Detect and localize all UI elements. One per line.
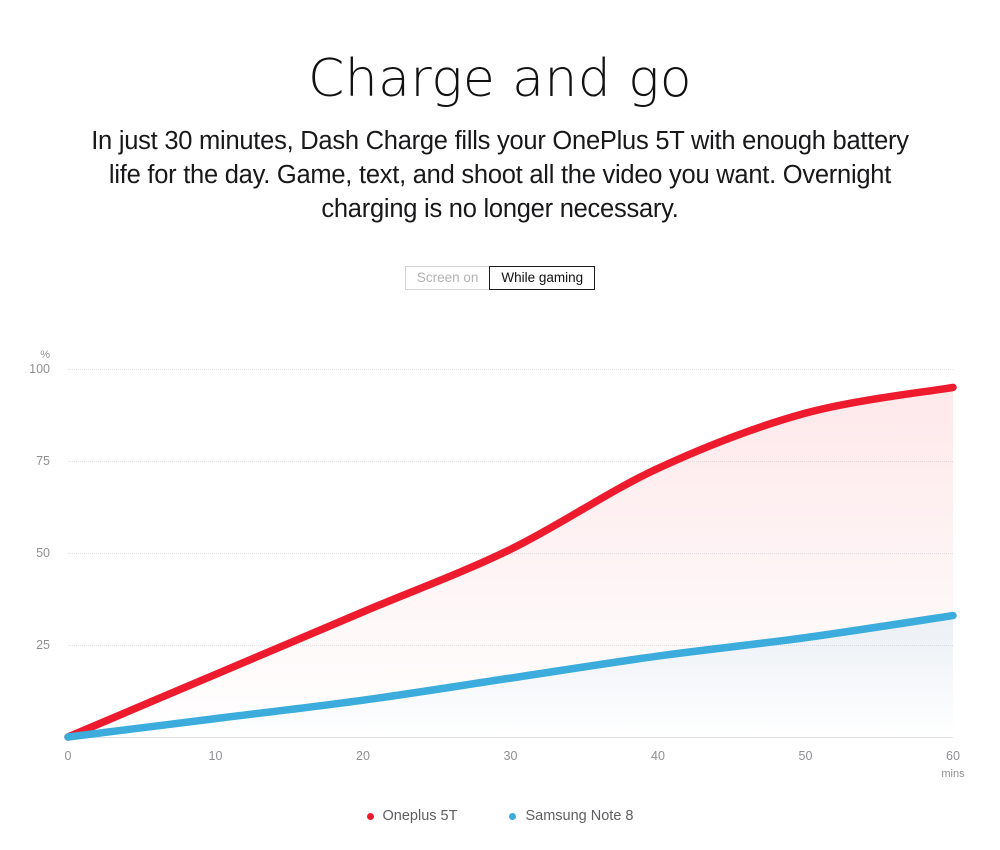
x-axis-tick-40: 40 [651, 749, 665, 763]
x-axis-tick-value: 0 [65, 749, 72, 763]
hero-section: Charge and go In just 30 minutes, Dash C… [0, 0, 1000, 226]
x-axis-tick-value: 30 [504, 749, 518, 763]
x-axis-tick-10: 10 [209, 749, 223, 763]
x-axis-tick-value: 10 [209, 749, 223, 763]
x-axis-tick-value: 60 [946, 749, 960, 763]
x-axis-baseline [68, 737, 953, 738]
x-axis-tick-20: 20 [356, 749, 370, 763]
hero-subtitle: In just 30 minutes, Dash Charge fills yo… [85, 107, 915, 226]
y-axis-tick-50: 50 [36, 546, 50, 560]
page-title: Charge and go [0, 0, 1000, 107]
chart-legend: Oneplus 5T Samsung Note 8 [0, 808, 1000, 824]
toggle-option-while-gaming-label: While gaming [501, 271, 583, 285]
x-axis-tick-value: 50 [799, 749, 813, 763]
y-axis-tick-25: 25 [36, 638, 50, 652]
legend-label-oneplus-5t: Oneplus 5T [383, 808, 458, 824]
y-axis-tick-100: 100 [29, 362, 50, 376]
chart-plot-area: % 255075100 0102030405060mins [68, 369, 953, 737]
y-axis-tick-75: 75 [36, 454, 50, 468]
x-axis-tick-value: 20 [356, 749, 370, 763]
x-axis-unit-label: mins [941, 768, 964, 780]
legend-label-samsung-note-8: Samsung Note 8 [525, 808, 633, 824]
legend-item-oneplus-5t[interactable]: Oneplus 5T [367, 808, 458, 824]
toggle-option-screen-on-label: Screen on [417, 271, 479, 285]
x-axis-tick-60: 60mins [941, 749, 964, 780]
legend-item-samsung-note-8[interactable]: Samsung Note 8 [509, 808, 633, 824]
x-axis-tick-30: 30 [504, 749, 518, 763]
legend-dot-icon [509, 813, 516, 820]
chart-series-layer [68, 369, 953, 737]
legend-dot-icon [367, 813, 374, 820]
battery-charge-chart: % 255075100 0102030405060mins [0, 330, 1000, 800]
toggle-option-while-gaming[interactable]: While gaming [489, 266, 595, 290]
toggle-option-screen-on[interactable]: Screen on [405, 266, 491, 290]
y-axis-unit-label: % [40, 349, 50, 361]
x-axis-tick-50: 50 [799, 749, 813, 763]
x-axis-tick-0: 0 [65, 749, 72, 763]
toggle-group: Screen on While gaming [405, 266, 595, 290]
chart-mode-toggle: Screen on While gaming [0, 266, 1000, 290]
x-axis-tick-value: 40 [651, 749, 665, 763]
